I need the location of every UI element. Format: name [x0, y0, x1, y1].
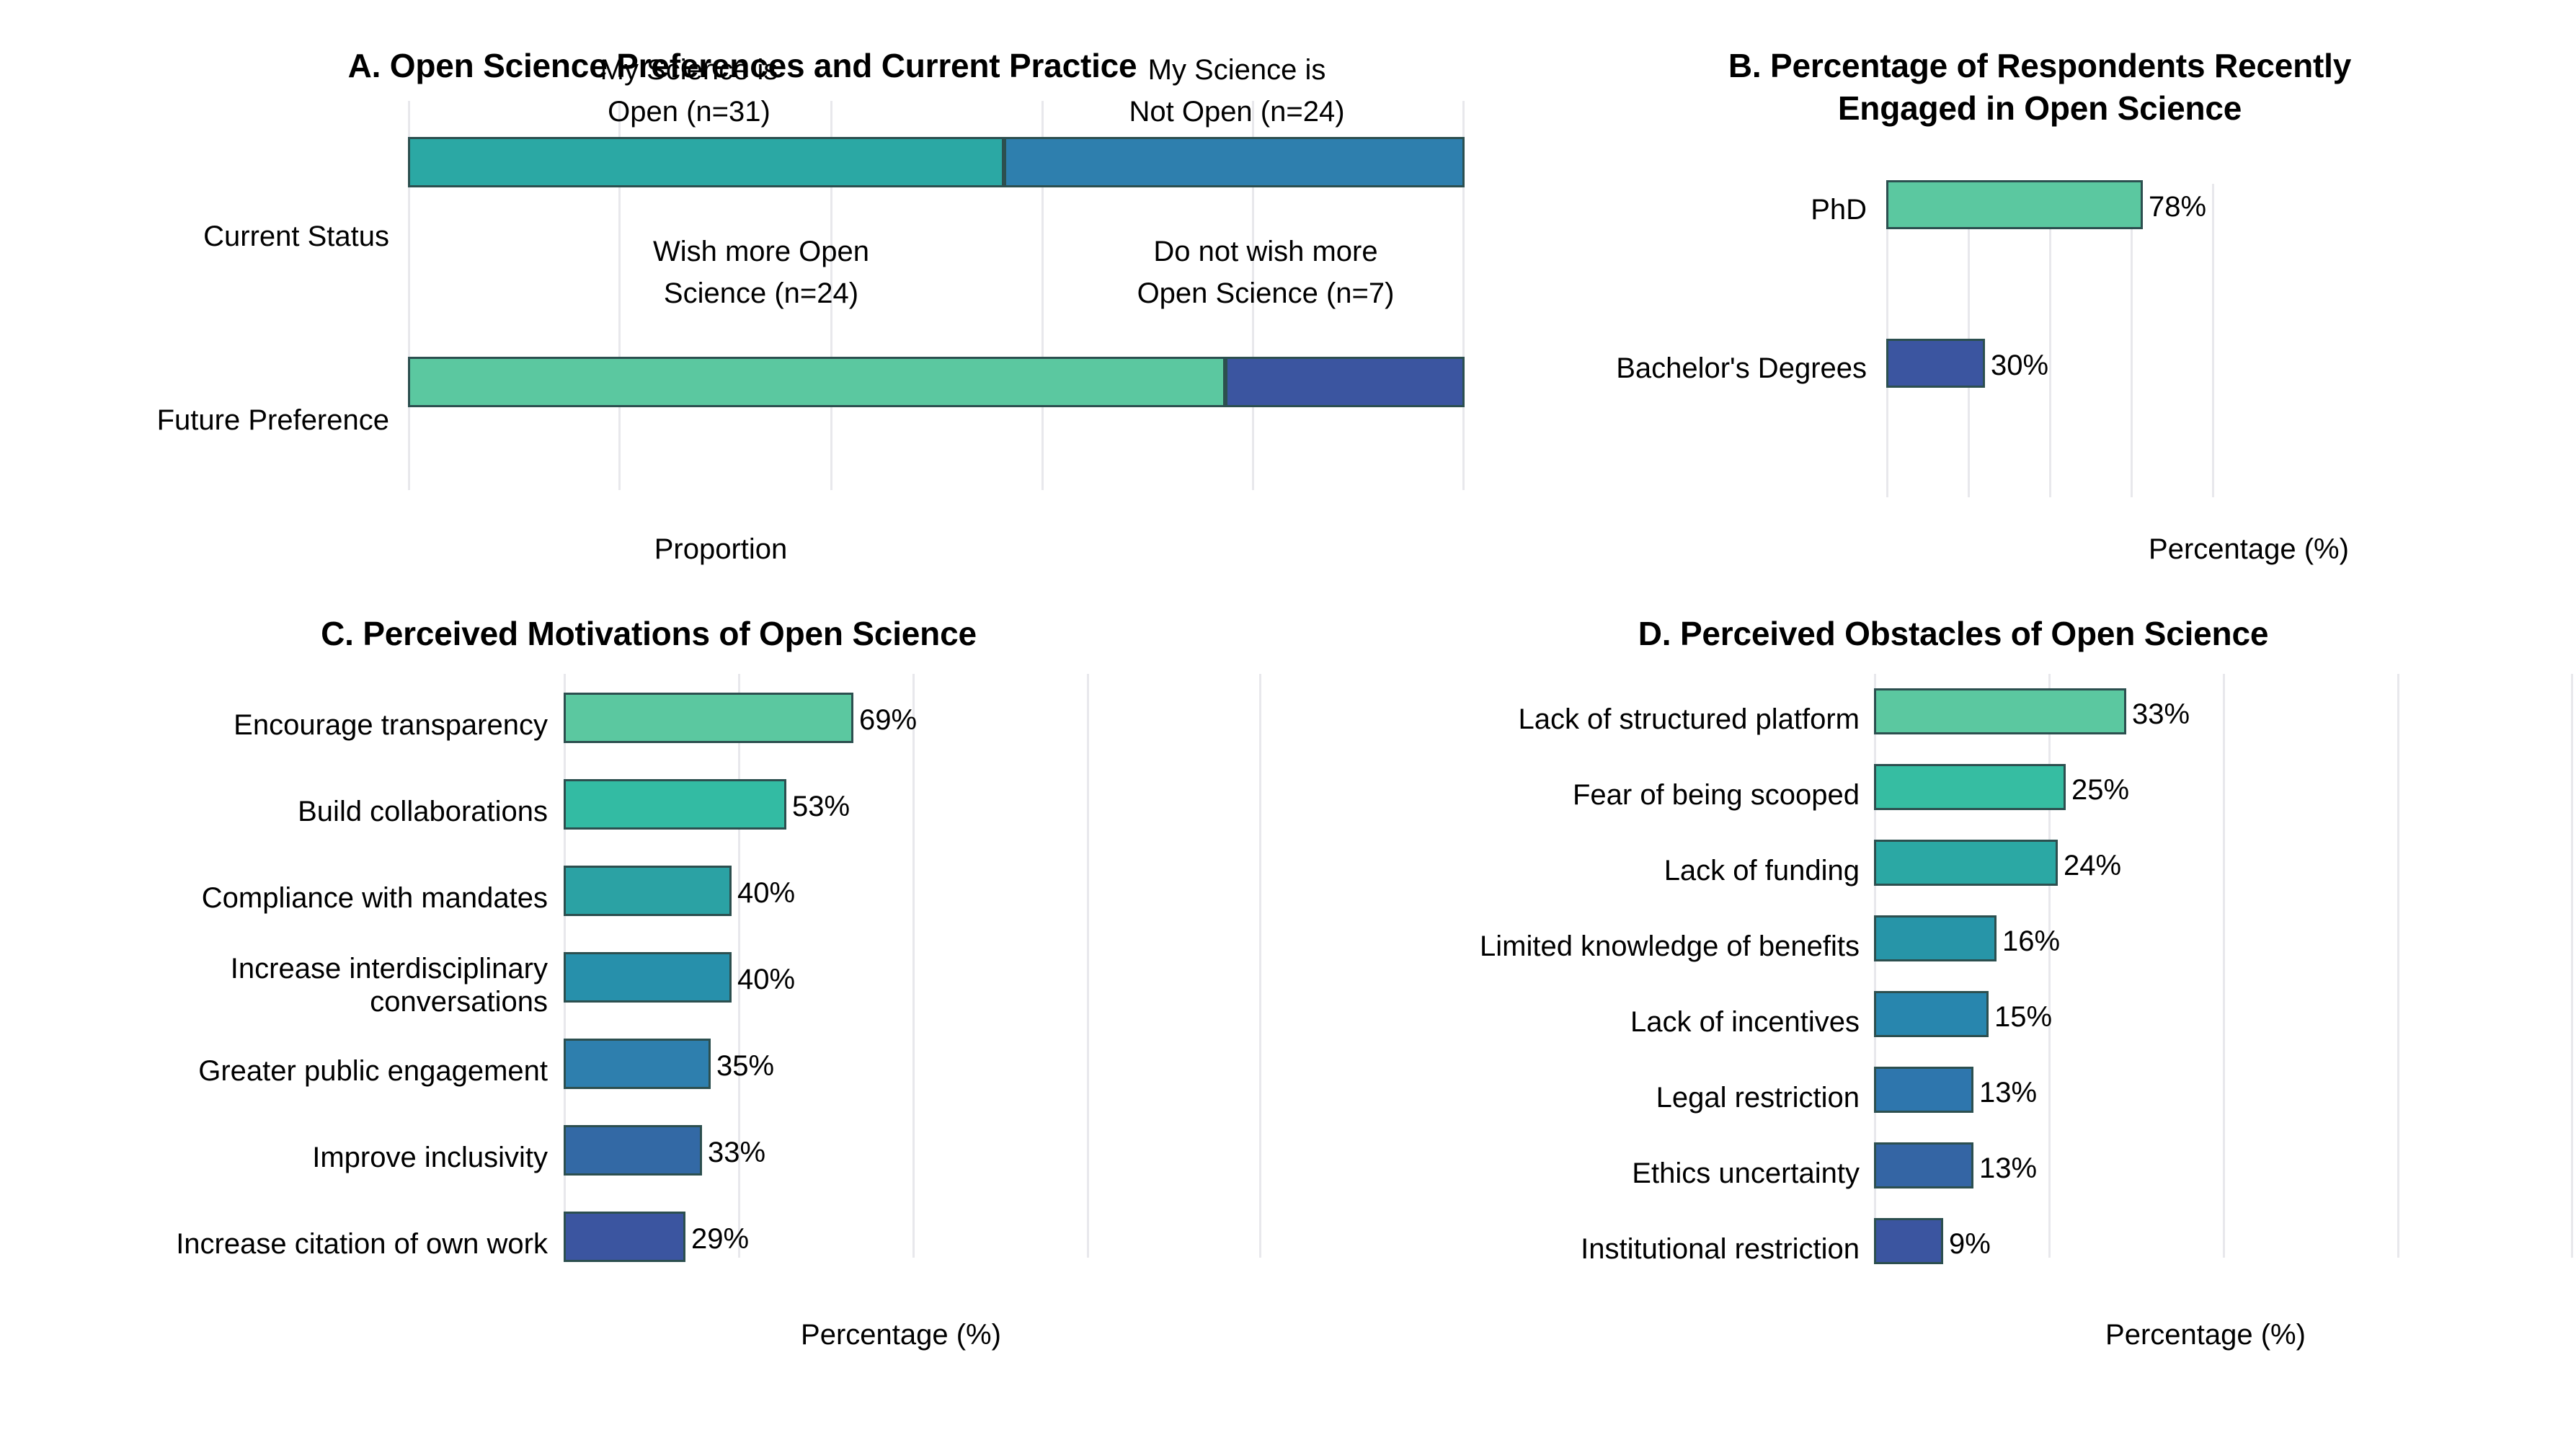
panel-d-bar-limited-knowledge-of-benefits[interactable] — [1874, 915, 1997, 961]
panel-a-bar-future-preference[interactable] — [408, 357, 1465, 407]
panel-d-bar-legal-restriction[interactable] — [1874, 1067, 1973, 1113]
bar-segment-do-not-wish-more[interactable] — [1225, 357, 1465, 407]
panel-d-value-lack-of-funding: 24% — [2064, 851, 2121, 880]
panel-b-plot: 78% 30% — [1886, 184, 2576, 497]
panel-d-bar-lack-of-funding[interactable] — [1874, 840, 2058, 886]
gridline — [2212, 184, 2214, 497]
gridline — [1259, 674, 1261, 1258]
panel-a-bar-current-status[interactable] — [408, 137, 1465, 187]
panel-c-bar-increase-interdisciplinary-conversations[interactable] — [564, 952, 732, 1003]
panel-d-value-lack-of-incentives: 15% — [1994, 1003, 2052, 1031]
panel-c-value-improve-inclusivity: 33% — [708, 1138, 765, 1167]
panel-d-bar-lack-of-structured-platform[interactable] — [1874, 688, 2126, 734]
panel-c-plot: 69% 53% 40% 40% 35% 33% 29% — [564, 674, 1261, 1258]
panel-d-title: D. Perceived Obstacles of Open Science — [1463, 613, 2443, 655]
panel-c-value-encourage-transparency: 69% — [859, 706, 917, 734]
panel-d-category-ethics-uncertainty: Ethics uncertainty — [1305, 1157, 1860, 1190]
panel-d-category-lack-of-funding: Lack of funding — [1305, 854, 1860, 887]
panel-d-value-lack-of-structured-platform: 33% — [2132, 700, 2190, 729]
panel-c-bar-build-collaborations[interactable] — [564, 779, 786, 830]
gridline — [2397, 674, 2399, 1258]
bar-segment-wish-more-open[interactable] — [408, 357, 1225, 407]
gridline — [2223, 674, 2225, 1258]
panel-c-bar-improve-inclusivity[interactable] — [564, 1125, 702, 1176]
panel-c-category-greater-public-engagement: Greater public engagement — [14, 1054, 548, 1088]
panel-a-plot: My Science is Open (n=31) My Science is … — [408, 101, 1465, 490]
panel-c-bar-encourage-transparency[interactable] — [564, 693, 853, 743]
bar-segment-open[interactable] — [408, 137, 1004, 187]
gridline — [2048, 674, 2051, 1258]
panel-c-bar-greater-public-engagement[interactable] — [564, 1039, 711, 1089]
gridline — [2571, 674, 2573, 1258]
panel-c-bar-increase-citation-of-own-work[interactable] — [564, 1212, 685, 1262]
panel-d-category-limited-knowledge-of-benefits: Limited knowledge of benefits — [1305, 930, 1860, 963]
panel-b-bar-bachelors[interactable] — [1886, 339, 1985, 388]
panel-c-value-compliance-with-mandates: 40% — [737, 879, 795, 907]
panel-d-bar-institutional-restriction[interactable] — [1874, 1218, 1943, 1264]
panel-d-bar-fear-of-being-scooped[interactable] — [1874, 764, 2066, 810]
panel-c-category-increase-interdisciplinary-conversations: Increase interdisciplinary conversations — [14, 952, 548, 1019]
panel-d-value-institutional-restriction: 9% — [1949, 1230, 1991, 1258]
panel-d-plot: 33% 25% 24% 16% 15% 13% 13% 9% — [1874, 674, 2573, 1258]
panel-c: C. Perceived Motivations of Open Science… — [0, 577, 1290, 1453]
panel-c-bar-compliance-with-mandates[interactable] — [564, 866, 732, 916]
panel-b-xlabel: Percentage (%) — [2069, 533, 2429, 566]
gridline — [2131, 184, 2133, 497]
panel-b: B. Percentage of Respondents Recently En… — [1492, 0, 2576, 577]
panel-a-annotation-not-open: My Science is Not Open (n=24) — [912, 49, 1561, 133]
panel-a: A. Open Science Preferences and Current … — [0, 0, 1492, 577]
panel-d-category-legal-restriction: Legal restriction — [1305, 1081, 1860, 1114]
panel-b-bar-phd[interactable] — [1886, 180, 2143, 229]
panel-d-bar-ethics-uncertainty[interactable] — [1874, 1142, 1973, 1188]
figure-canvas: A. Open Science Preferences and Current … — [0, 0, 2576, 1453]
panel-d-category-institutional-restriction: Institutional restriction — [1305, 1232, 1860, 1266]
panel-d-category-fear-of-being-scooped: Fear of being scooped — [1305, 778, 1860, 812]
panel-d-xlabel: Percentage (%) — [2025, 1319, 2386, 1351]
panel-c-value-increase-interdisciplinary-conversations: 40% — [737, 965, 795, 994]
gridline — [912, 674, 915, 1258]
panel-d-value-fear-of-being-scooped: 25% — [2071, 776, 2129, 804]
panel-c-xlabel: Percentage (%) — [721, 1319, 1081, 1351]
panel-c-value-greater-public-engagement: 35% — [716, 1052, 774, 1080]
panel-c-category-encourage-transparency: Encourage transparency — [14, 708, 548, 742]
panel-c-category-improve-inclusivity: Improve inclusivity — [14, 1141, 548, 1174]
panel-d-value-legal-restriction: 13% — [1979, 1078, 2037, 1107]
panel-d-bar-lack-of-incentives[interactable] — [1874, 991, 1989, 1037]
panel-a-category-current-status: Current Status — [14, 220, 389, 253]
panel-c-value-build-collaborations: 53% — [792, 792, 850, 821]
gridline — [2049, 184, 2051, 497]
panel-c-value-increase-citation-of-own-work: 29% — [691, 1225, 749, 1253]
panel-b-title: B. Percentage of Respondents Recently En… — [1578, 45, 2501, 130]
panel-d-value-limited-knowledge-of-benefits: 16% — [2002, 927, 2060, 956]
panel-b-category-bachelors: Bachelor's Degrees — [1506, 352, 1867, 385]
panel-b-category-phd: PhD — [1506, 193, 1867, 226]
panel-d-category-lack-of-incentives: Lack of incentives — [1305, 1005, 1860, 1039]
panel-d-category-lack-of-structured-platform: Lack of structured platform — [1305, 703, 1860, 736]
panel-a-category-future-preference: Future Preference — [14, 404, 389, 437]
panel-a-xlabel: Proportion — [577, 533, 865, 566]
gridline — [1087, 674, 1089, 1258]
panel-b-value-bachelors: 30% — [1991, 351, 2048, 380]
panel-c-category-compliance-with-mandates: Compliance with mandates — [14, 881, 548, 915]
panel-c-category-increase-citation-of-own-work: Increase citation of own work — [14, 1227, 548, 1261]
panel-c-category-build-collaborations: Build collaborations — [14, 795, 548, 828]
panel-b-value-phd: 78% — [2149, 192, 2206, 221]
panel-d: D. Perceived Obstacles of Open Science 3… — [1290, 577, 2576, 1453]
panel-d-value-ethics-uncertainty: 13% — [1979, 1154, 2037, 1183]
panel-c-title: C. Perceived Motivations of Open Science — [144, 613, 1153, 655]
bar-segment-not-open[interactable] — [1004, 137, 1465, 187]
